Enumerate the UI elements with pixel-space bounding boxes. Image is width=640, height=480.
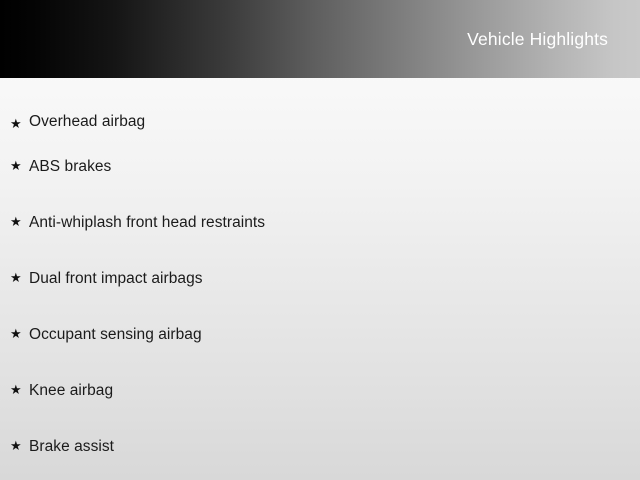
list-item: ★ Dual front impact airbags — [0, 250, 640, 306]
vehicle-highlights-list: ★ Overhead airbag ★ ABS brakes ★ Anti-wh… — [0, 78, 640, 474]
star-icon: ★ — [10, 160, 29, 173]
header-bar: Vehicle Highlights — [0, 0, 640, 78]
highlight-label: Overhead airbag — [29, 112, 640, 131]
highlight-label: Anti-whiplash front head restraints — [29, 213, 640, 232]
vehicle-highlights-slide: Vehicle Highlights ★ Overhead airbag ★ A… — [0, 0, 640, 480]
star-icon: ★ — [10, 384, 29, 397]
list-item: ★ Overhead airbag — [0, 78, 640, 138]
highlight-label: Brake assist — [29, 437, 640, 456]
list-item: ★ Occupant sensing airbag — [0, 306, 640, 362]
highlight-label: ABS brakes — [29, 157, 640, 176]
star-icon: ★ — [10, 440, 29, 453]
list-item: ★ Knee airbag — [0, 362, 640, 418]
highlight-label: Dual front impact airbags — [29, 269, 640, 288]
star-icon: ★ — [10, 216, 29, 229]
list-item: ★ ABS brakes — [0, 138, 640, 194]
star-icon: ★ — [10, 118, 29, 131]
list-item: ★ Brake assist — [0, 418, 640, 474]
star-icon: ★ — [10, 272, 29, 285]
star-icon: ★ — [10, 328, 29, 341]
highlight-label: Occupant sensing airbag — [29, 325, 640, 344]
page-title: Vehicle Highlights — [467, 29, 608, 49]
list-item: ★ Anti-whiplash front head restraints — [0, 194, 640, 250]
highlight-label: Knee airbag — [29, 381, 640, 400]
